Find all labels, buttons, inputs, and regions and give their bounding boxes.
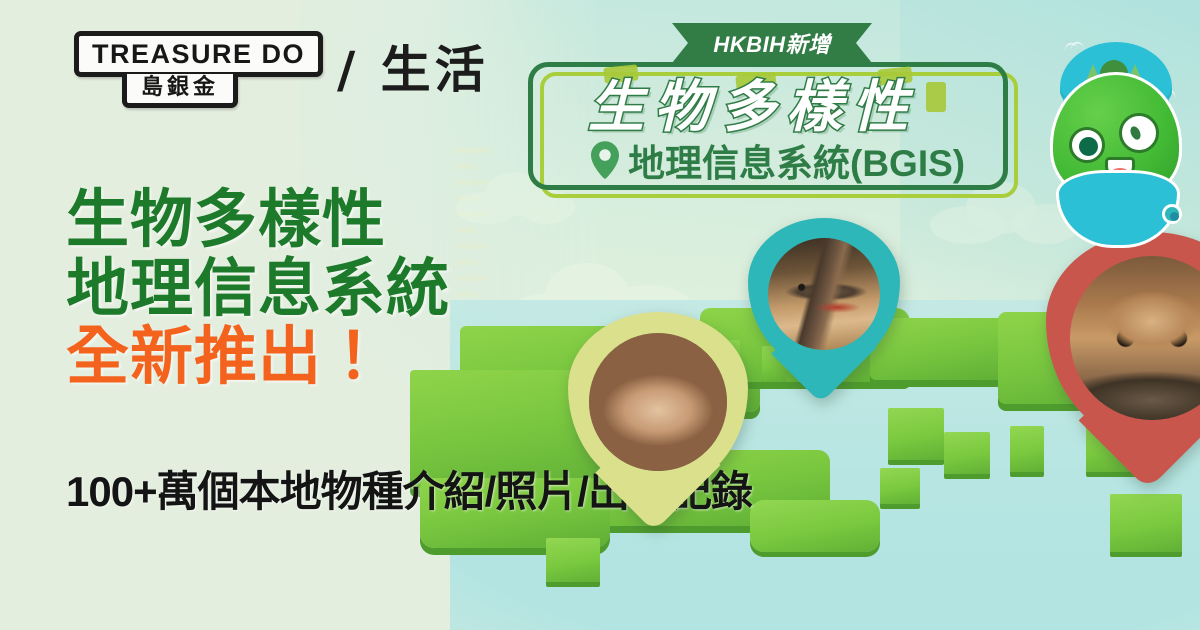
ribbon-label: HKBIH新增 — [713, 27, 830, 59]
species-pin-lizard[interactable] — [748, 218, 900, 370]
mascot-eye-right — [1119, 113, 1159, 153]
headline-line-3: 全新推出！ — [66, 323, 536, 392]
logo-plate-bottom: 島銀金 — [122, 74, 238, 108]
banner-title: 生物多樣性 — [588, 62, 918, 143]
map-island-block-6 — [1110, 494, 1182, 552]
mascot-body — [1056, 170, 1180, 248]
species-photo-crab — [589, 333, 727, 471]
species-photo-frog — [1070, 256, 1200, 420]
banner-subtitle: 地理信息系統(BGIS) — [628, 133, 965, 187]
map-island-block-2 — [944, 432, 990, 474]
section-label: / 生活 — [337, 45, 489, 95]
logo-plate: TREASURE DO 島銀金 — [74, 31, 323, 108]
banner-subtitle-row: 地理信息系統(BGIS) — [590, 133, 965, 187]
species-pin-crab[interactable] — [568, 312, 748, 492]
headline-block: 生物多樣性 地理信息系統 全新推出！ — [66, 186, 536, 392]
bgis-mascot — [1022, 42, 1200, 272]
headline-line-1: 生物多樣性 — [66, 186, 536, 255]
map-island-hong-kong — [750, 500, 880, 552]
logo-brand-name: TREASURE DO — [92, 41, 305, 68]
map-island-block-3 — [880, 468, 920, 504]
logo-plate-top: TREASURE DO — [74, 31, 323, 77]
map-island-block-7 — [546, 538, 600, 582]
location-pin-icon — [590, 141, 620, 179]
mascot-eye-left — [1069, 127, 1105, 163]
brush-accent-4 — [926, 82, 946, 112]
new-feature-ribbon: HKBIH新增 — [672, 23, 872, 63]
map-island-block-1 — [888, 408, 944, 460]
map-island-block-4 — [1010, 426, 1044, 472]
headline-line-2: 地理信息系統 — [66, 255, 536, 324]
site-logo[interactable]: TREASURE DO 島銀金 / 生活 — [74, 31, 489, 108]
logo-brand-name-zh: 島銀金 — [141, 75, 219, 100]
species-photo-lizard — [768, 238, 880, 350]
mascot-body-dot — [1162, 204, 1182, 224]
promotional-banner: HKBIH新增 生物多樣性 地理信息系統(BGIS) TREASURE DO 島… — [0, 0, 1200, 630]
